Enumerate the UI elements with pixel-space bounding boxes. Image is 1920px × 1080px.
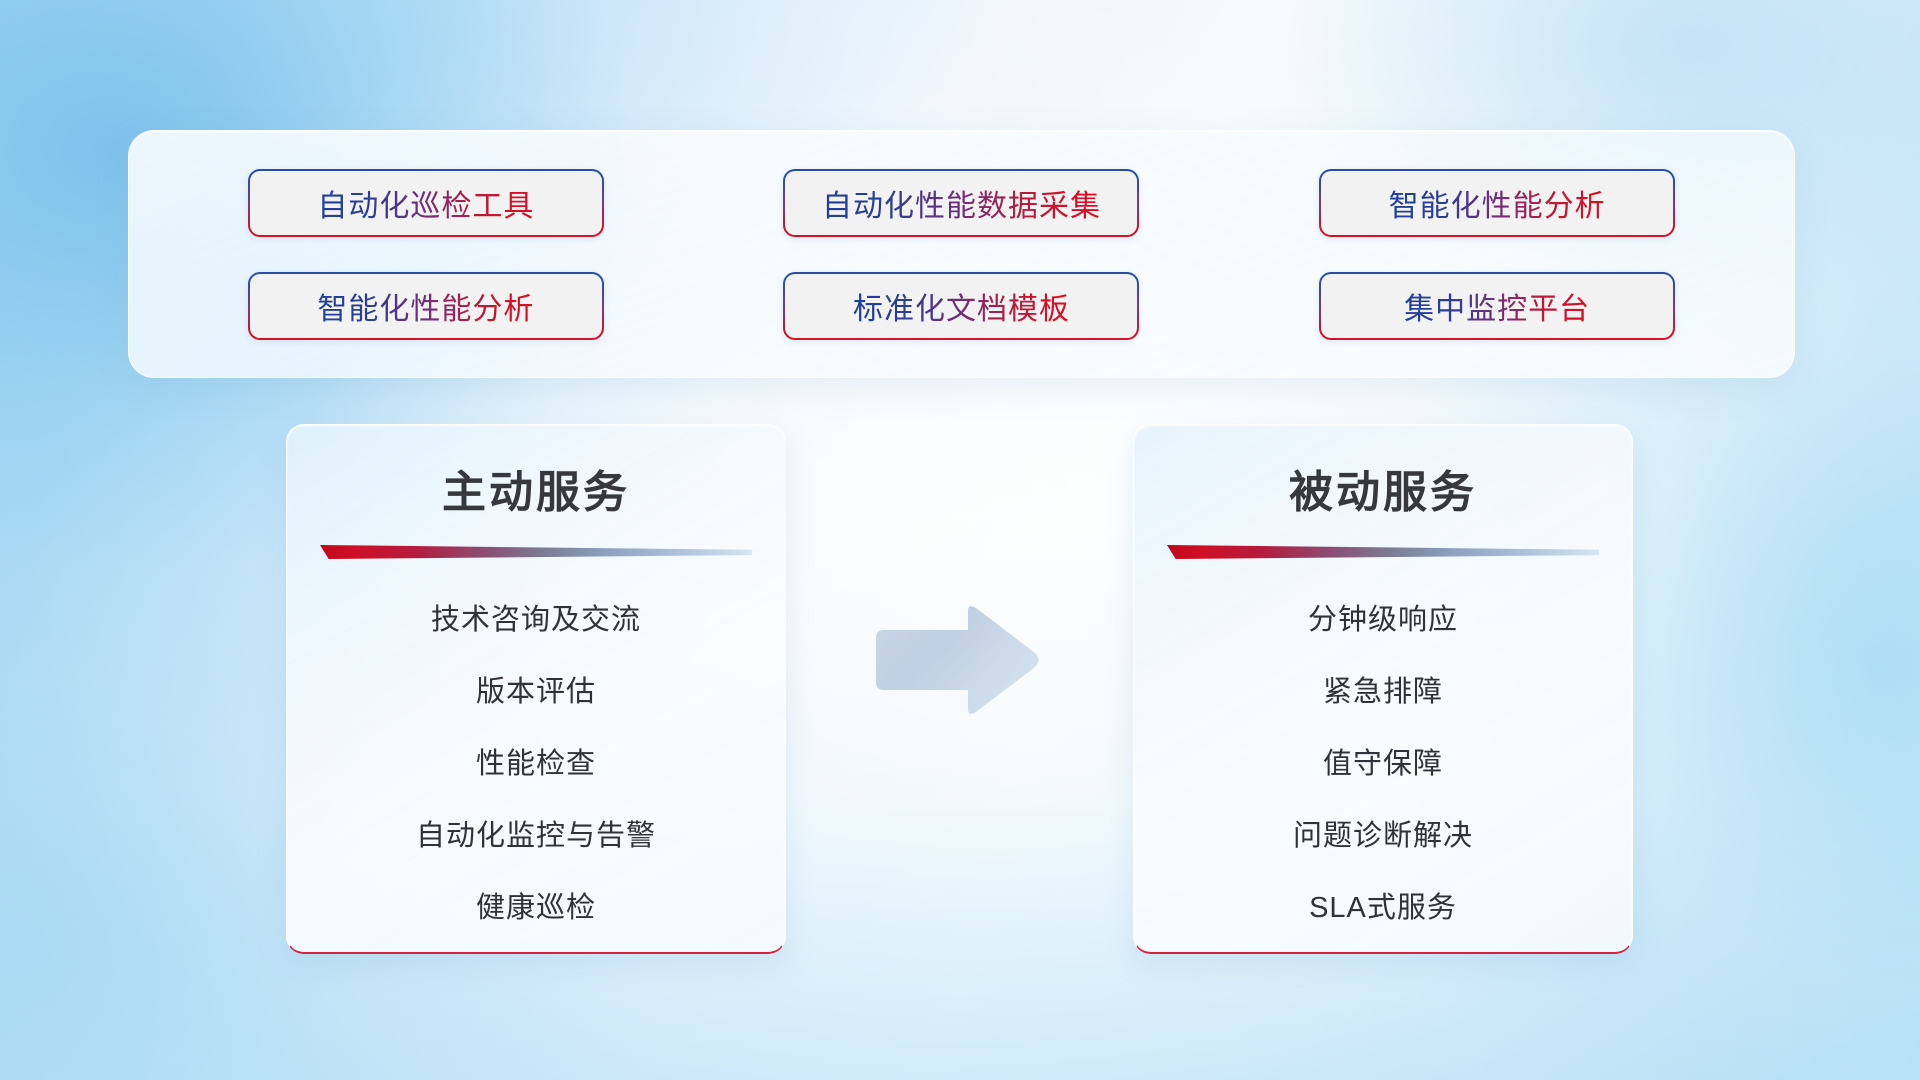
capability-tag-1-inner: 自动化性能数据采集 [785, 171, 1137, 235]
capability-tag-2-inner: 智能化性能分析 [1321, 171, 1673, 235]
capability-tag-3-inner: 智能化性能分析 [250, 274, 602, 338]
list-item: 健康巡检 [317, 873, 755, 945]
capability-tag-0[interactable]: 自动化巡检工具 [248, 169, 604, 237]
reactive-service-divider [1167, 545, 1599, 559]
capability-tag-5[interactable]: 集中监控平台 [1319, 272, 1675, 340]
capability-tag-0-label: 自动化巡检工具 [317, 181, 534, 225]
list-item: SLA式服务 [1164, 873, 1602, 945]
list-item: 分钟级响应 [1164, 585, 1602, 657]
list-item: 问题诊断解决 [1164, 801, 1602, 873]
capability-tag-0-inner: 自动化巡检工具 [250, 171, 602, 235]
capability-tag-2-label: 智能化性能分析 [1389, 181, 1606, 225]
divider-bar [1167, 545, 1599, 559]
capability-tag-4[interactable]: 标准化文档模板 [783, 272, 1139, 340]
capability-tag-5-inner: 集中监控平台 [1321, 274, 1673, 338]
capability-tag-5-label: 集中监控平台 [1404, 284, 1590, 328]
list-item: 版本评估 [317, 657, 755, 729]
list-item: 性能检查 [317, 729, 755, 801]
capability-tag-3[interactable]: 智能化性能分析 [248, 272, 604, 340]
capability-tag-4-label: 标准化文档模板 [853, 284, 1070, 328]
page-root: 自动化巡检工具 自动化性能数据采集 智能化性能分析 智能化性能分析 标准化文档模… [0, 0, 1920, 1080]
capability-tag-2[interactable]: 智能化性能分析 [1319, 169, 1675, 237]
proactive-service-list: 技术咨询及交流 版本评估 性能检查 自动化监控与告警 健康巡检 [317, 585, 755, 944]
capability-tag-panel: 自动化巡检工具 自动化性能数据采集 智能化性能分析 智能化性能分析 标准化文档模… [128, 130, 1795, 378]
reactive-service-card: 被动服务 分钟级响应 紧急排障 值守保障 问题诊断解决 SLA式服务 [1133, 424, 1633, 954]
capability-tag-1[interactable]: 自动化性能数据采集 [783, 169, 1139, 237]
proactive-service-divider [320, 545, 752, 559]
reactive-service-list: 分钟级响应 紧急排障 值守保障 问题诊断解决 SLA式服务 [1164, 585, 1602, 944]
proactive-service-card: 主动服务 技术咨询及交流 版本评估 性能检查 自动化监控与告警 健康巡检 [286, 424, 786, 954]
list-item: 值守保障 [1164, 729, 1602, 801]
flow-connector [872, 603, 1042, 718]
right-arrow-icon [872, 603, 1042, 718]
capability-tag-1-label: 自动化性能数据采集 [822, 181, 1101, 225]
list-item: 自动化监控与告警 [317, 801, 755, 873]
capability-tag-4-inner: 标准化文档模板 [785, 274, 1137, 338]
list-item: 紧急排障 [1164, 657, 1602, 729]
capability-tag-3-label: 智能化性能分析 [317, 284, 534, 328]
list-item: 技术咨询及交流 [317, 585, 755, 657]
divider-bar [320, 545, 752, 559]
proactive-service-title: 主动服务 [442, 471, 630, 515]
reactive-service-title: 被动服务 [1289, 471, 1477, 515]
